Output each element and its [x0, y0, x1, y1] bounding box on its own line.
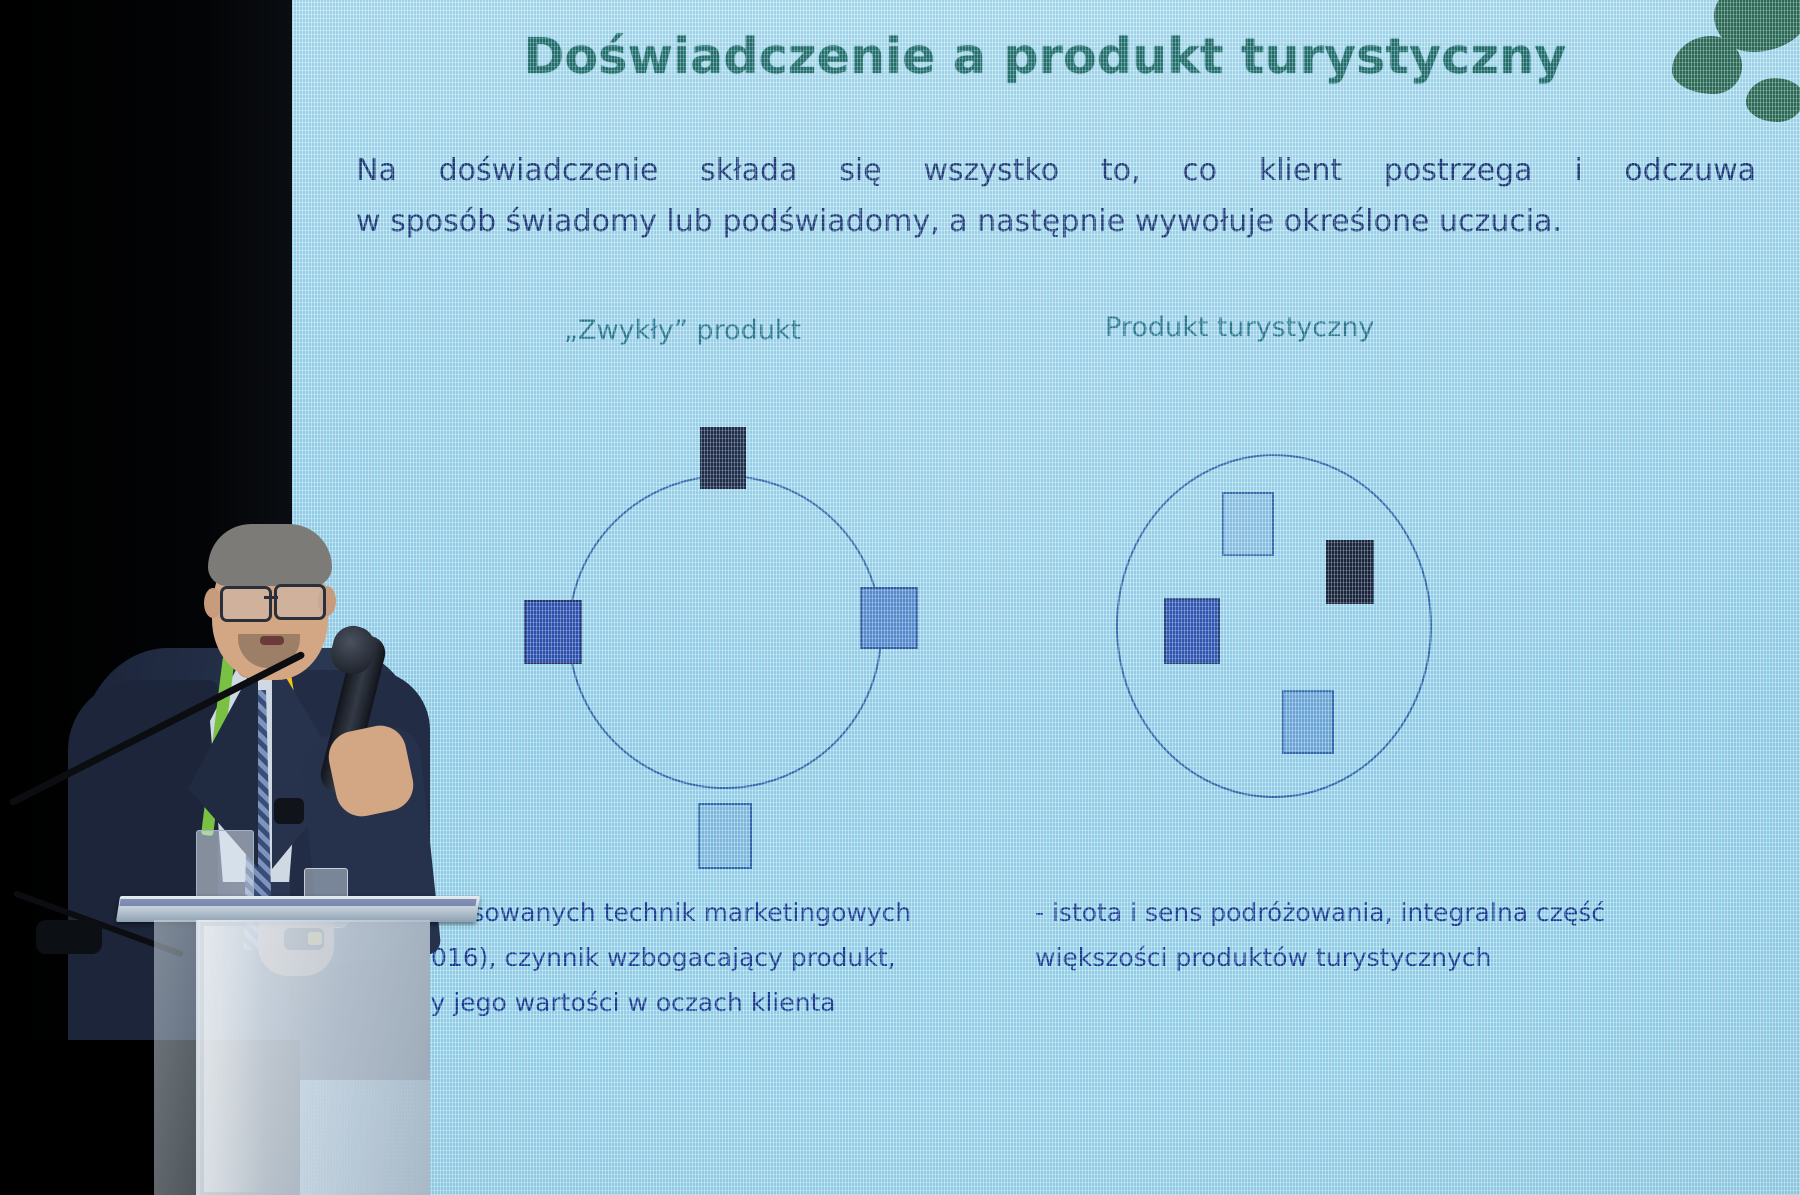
diagram-square-bottom: [698, 803, 752, 869]
presentation-screen: Doświadczenie a produkt turystyczny Na d…: [290, 0, 1800, 1195]
footnote-line: - istota i sens podróżowania, integralna…: [1035, 890, 1605, 935]
eyeglasses-lens-right: [274, 584, 326, 620]
footnote-tourism-product: - istota i sens podróżowania, integralna…: [1035, 890, 1605, 980]
column-label-tourism-product: Produkt turystyczny: [1105, 312, 1374, 343]
column-label-ordinary-product: „Zwykły” produkt: [564, 315, 801, 346]
speaker-podium: [118, 896, 478, 1195]
slide-title: Doświadczenie a produkt turystyczny: [290, 28, 1800, 85]
diagram-square-inner-mid-left: [1164, 598, 1220, 664]
diagram-square-top: [700, 427, 746, 489]
diagram-square-right: [860, 587, 918, 649]
slide-body-text: Na doświadczenie składa się wszystko to,…: [356, 145, 1756, 247]
footnote-line: większości produktów turystycznych: [1035, 935, 1605, 980]
diagram-circle-outline: [568, 475, 882, 789]
diagram-square-inner-upper-right: [1326, 540, 1374, 604]
diagram-tourism-product: [1080, 440, 1460, 840]
diagram-square-left: [524, 600, 582, 664]
eyeglasses-lens-left: [220, 586, 272, 622]
hair: [208, 524, 332, 586]
diagram-square-inner-lower: [1282, 690, 1334, 754]
conference-photo-scene: Doświadczenie a produkt turystyczny Na d…: [0, 0, 1800, 1195]
diagram-ordinary-product: [530, 415, 910, 875]
eyeglasses-bridge: [264, 596, 278, 599]
boom-base: [36, 920, 102, 954]
slide-content: Doświadczenie a produkt turystyczny Na d…: [290, 0, 1800, 1195]
podium-glass-reflection: [204, 926, 264, 1192]
podium-top-edge: [119, 899, 476, 906]
slide-body-line-1: Na doświadczenie składa się wszystko to,…: [356, 145, 1756, 196]
boom-joint: [274, 798, 304, 824]
mouth: [260, 636, 284, 645]
podium-glass-side-panel: [154, 920, 200, 1195]
diagram-square-inner-upper-left: [1222, 492, 1274, 556]
slide-body-line-2: w sposób świadomy lub podświadomy, a nas…: [356, 196, 1756, 247]
